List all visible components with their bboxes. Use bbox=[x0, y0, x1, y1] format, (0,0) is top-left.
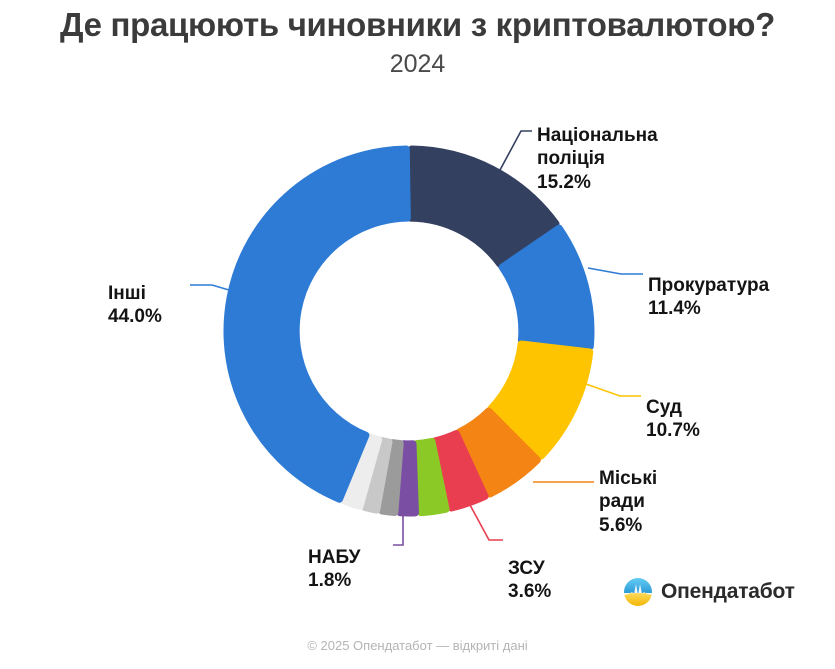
leader-line-court bbox=[583, 383, 641, 396]
slice-label-prosecutor: Прокуратура 11.4% bbox=[648, 250, 769, 344]
slice-label-nabu: НАБУ 1.8% bbox=[308, 522, 360, 616]
chart-root: Де працюють чиновники з криптовалютою? 2… bbox=[0, 0, 835, 669]
brand: Опендатабот bbox=[624, 578, 795, 606]
leader-line-police bbox=[500, 131, 532, 170]
leader-line-prosecutor bbox=[588, 268, 643, 274]
slice-label-city-councils-value: 5.6% bbox=[599, 514, 657, 538]
slice-label-prosecutor-name: Прокуратура bbox=[648, 275, 769, 296]
slice-label-prosecutor-value: 11.4% bbox=[648, 297, 769, 321]
slice-label-zsu-name: ЗСУ bbox=[508, 558, 545, 579]
slice-label-city-councils-name: Міські ради bbox=[599, 468, 657, 513]
slice-label-nabu-value: 1.8% bbox=[308, 569, 360, 593]
slice-label-court-name: Суд bbox=[646, 397, 682, 418]
brand-name: Опендатабот bbox=[661, 580, 795, 604]
slice-label-other: Інші 44.0% bbox=[108, 258, 162, 352]
opendatabot-trident-icon bbox=[624, 578, 652, 606]
slice-label-nabu-name: НАБУ bbox=[308, 547, 360, 568]
slice-label-other-value: 44.0% bbox=[108, 305, 162, 329]
slice-label-police-value: 15.2% bbox=[537, 171, 658, 195]
slice-label-zsu: ЗСУ 3.6% bbox=[508, 533, 551, 627]
slice-label-police: Національна поліція 15.2% bbox=[537, 100, 658, 218]
slice-label-other-name: Інші bbox=[108, 283, 146, 304]
slice-label-police-name: Національна поліція bbox=[537, 125, 658, 170]
slice-label-city-councils: Міські ради 5.6% bbox=[599, 443, 657, 561]
slice-label-court-value: 10.7% bbox=[646, 419, 700, 443]
footer-copyright: © 2025 Опендатабот — відкриті дані bbox=[0, 638, 835, 653]
slice-label-zsu-value: 3.6% bbox=[508, 580, 551, 604]
